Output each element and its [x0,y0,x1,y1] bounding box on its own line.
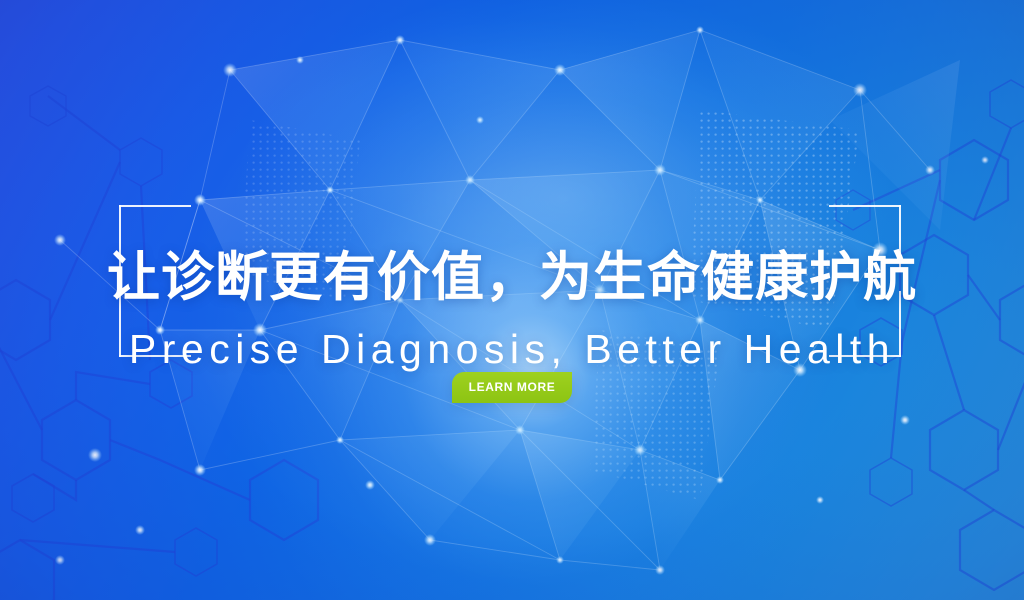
headline-chinese: 让诊断更有价值，为生命健康护航 [0,251,1024,304]
cta-container: LEARN MORE [0,372,1024,403]
hero-banner: 让诊断更有价值，为生命健康护航 Precise Diagnosis, Bette… [0,0,1024,600]
subheadline-english: Precise Diagnosis, Better Health [0,329,1024,370]
learn-more-button[interactable]: LEARN MORE [452,372,573,403]
banner-content: 让诊断更有价值，为生命健康护航 Precise Diagnosis, Bette… [0,0,1024,600]
